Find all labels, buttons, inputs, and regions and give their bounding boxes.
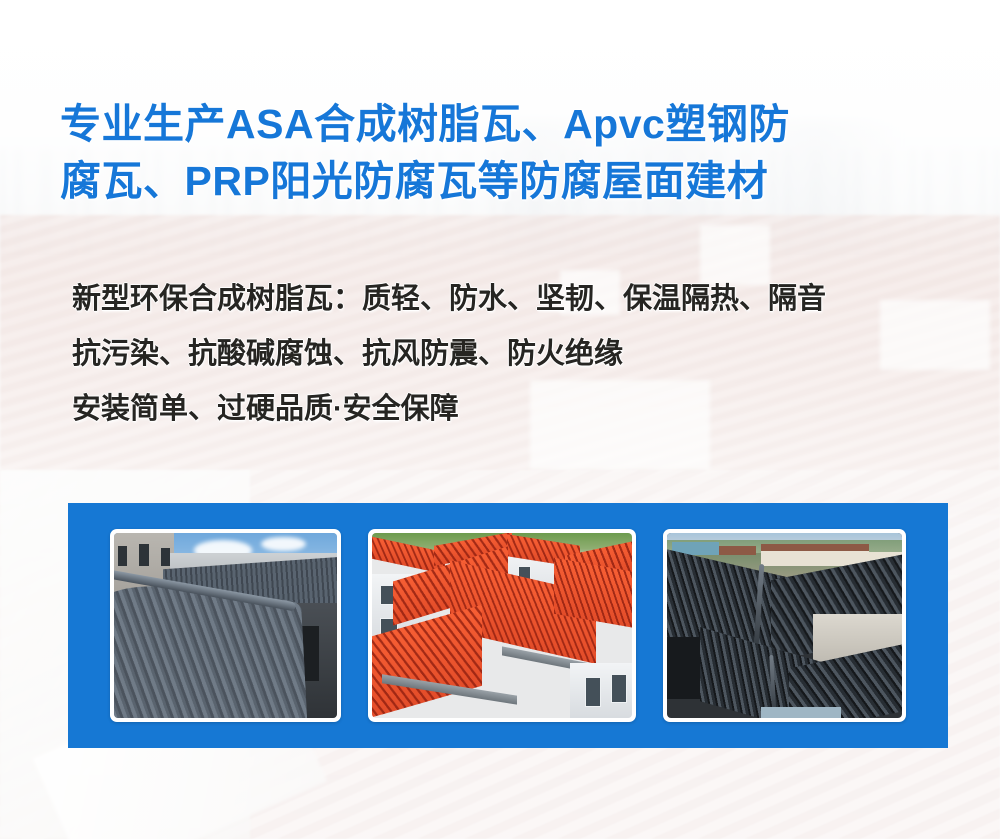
gallery-photo-2[interactable] (368, 529, 636, 722)
gray-resin-tile-roof-photo (114, 533, 337, 718)
page-title: 专业生产ASA合成树脂瓦、Apvc塑钢防 腐瓦、PRP阳光防腐瓦等防腐屋面建材 (60, 96, 945, 210)
photo-gallery (68, 503, 948, 748)
gallery-photo-3[interactable] (663, 529, 906, 722)
red-resin-tile-roof-photo (372, 533, 632, 718)
page-title-line-1: 专业生产ASA合成树脂瓦、Apvc塑钢防 (60, 96, 945, 153)
feature-line-3: 安装简单、过硬品质·安全保障 (72, 382, 972, 437)
feature-list: 新型环保合成树脂瓦：质轻、防水、坚韧、保温隔热、隔音 抗污染、抗酸碱腐蚀、抗风防… (72, 272, 972, 437)
gallery-photo-1[interactable] (110, 529, 341, 722)
black-resin-tile-roof-photo (667, 533, 902, 718)
feature-line-2: 抗污染、抗酸碱腐蚀、抗风防震、防火绝缘 (72, 327, 972, 382)
feature-line-1: 新型环保合成树脂瓦：质轻、防水、坚韧、保温隔热、隔音 (72, 272, 972, 327)
page-title-line-2: 腐瓦、PRP阳光防腐瓦等防腐屋面建材 (60, 153, 945, 210)
